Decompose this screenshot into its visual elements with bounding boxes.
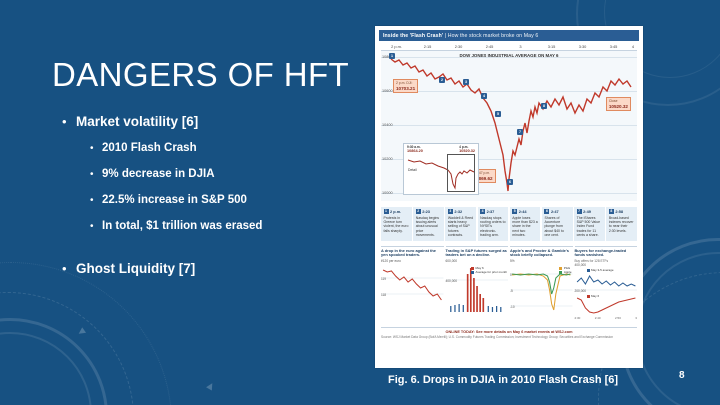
bullet-icon: • (62, 261, 76, 277)
note-number: 7 (577, 209, 582, 214)
note-body: Nasdaq stops routing orders to NYSE's el… (480, 216, 506, 238)
sub-panel-etf: Buyers for exchange-traded funds vanishe… (575, 246, 638, 323)
note-number: 8 (609, 209, 614, 214)
time-tick: 3:30 (567, 44, 598, 50)
infographic-header-title: Inside the 'Flash Crash' (383, 33, 443, 39)
legend-swatch-icon (587, 295, 590, 298)
djia-chart: 10800 10600 10400 10200 10000 1 2 3 4 5 … (381, 51, 637, 201)
time-tick: 2:15 (412, 44, 443, 50)
figure-image: Inside the 'Flash Crash' | How the stock… (375, 26, 643, 368)
infographic-header-subtitle: How the stock market broke on May 6 (448, 33, 539, 39)
legend-swatch-icon (559, 271, 562, 274)
open-callout: 2 p.m. DJI: 10703.21 (393, 79, 418, 93)
panel-tick: 118 (381, 293, 386, 316)
sub-panel-stocks: Apple's and Procter & Gamble's stock bri… (510, 246, 573, 323)
timeline-notes: 1 2 p.m. Protests in Greece turn violent… (381, 207, 637, 241)
sub-panel-euro-yen: A drop in the euro against the yen spook… (381, 246, 444, 323)
page-title: DANGERS OF HFT (52, 56, 349, 94)
note-number: 5 (512, 209, 517, 214)
inset-detail-label: Detail (408, 168, 417, 172)
list-item-label: 2010 Flash Crash (102, 141, 197, 156)
timeline-note: 1 2 p.m. Protests in Greece turn violent… (381, 207, 412, 241)
note-time: 2 p.m. (390, 209, 401, 214)
list-item-label: 9% decrease in DJIA (102, 167, 215, 182)
list-item-label: In total, $1 trillion was erased (102, 219, 262, 234)
panel-time-tick: 3 (635, 316, 637, 320)
list-item: • Ghost Liquidity [7] (62, 261, 362, 277)
panel-line-series (381, 264, 444, 312)
online-note: ONLINE TODAY: See more details on May 6 … (381, 327, 637, 334)
panel-time-axis: 2:30 2:40 2:50 3 (575, 316, 638, 320)
list-item: • 22.5% increase in S&P 500 (90, 193, 362, 208)
list-item-label: Ghost Liquidity [7] (76, 261, 195, 277)
source-note: Source: WSJ Market Data Group (BofA Merr… (381, 335, 637, 339)
slide: ◄ ◄ ◄ DANGERS OF HFT • Market volatility… (0, 0, 720, 405)
panel-legend: P&G Apple (559, 266, 571, 274)
inset-detail-box (447, 154, 475, 192)
note-time: 2:49 (583, 209, 591, 214)
panel-axis-label: 400,000 (575, 263, 638, 267)
timeline-note: 4 2:37 Nasdaq stops routing orders to NY… (478, 207, 509, 241)
page-number: 8 (679, 370, 685, 381)
panel-title: Trading in S&P futures surged as traders… (446, 249, 509, 259)
bullet-icon: • (62, 114, 76, 130)
panel-time-tick: 2:50 (615, 316, 621, 320)
time-tick: 2:45 (474, 44, 505, 50)
panel-title: Buyers for exchange-traded funds vanishe… (575, 249, 638, 259)
panel-legend-secondary: May 6 (587, 294, 600, 298)
timeline-note: 2 2:23 Nasdaq begins issuing alerts abou… (413, 207, 444, 241)
bullet-icon: • (90, 193, 102, 208)
legend-label: Apple (564, 270, 572, 274)
panel-chart: May 3-5 average May 6 200,000 2:30 2:40 … (575, 268, 638, 316)
timeline-note: 7 2:49 The iShares S&P 500 Value Index F… (574, 207, 605, 241)
note-number: 4 (480, 209, 485, 214)
sub-panel-sp-futures: Trading in S&P futures surged as traders… (446, 246, 509, 323)
note-body: Nasdaq begins issuing alerts about unusu… (416, 216, 442, 238)
note-time: 2:23 (422, 209, 430, 214)
time-tick: 4 (629, 44, 637, 50)
list-item: • 9% decrease in DJIA (90, 167, 362, 182)
chart-marker-6: 6 (507, 179, 513, 185)
legend-label: Average for prior month (476, 270, 507, 274)
panel-tick: -10 (510, 305, 515, 316)
panel-title: Apple's and Procter & Gamble's stock bri… (510, 249, 573, 259)
timeline-note: 5 2:44 Apple loses more than $23 a share… (510, 207, 541, 241)
time-axis: 2 p.m. 2:15 2:30 2:45 3 3:15 3:30 3:45 4 (381, 44, 637, 51)
note-body: Protests in Greece turn violent, the eur… (384, 216, 410, 234)
legend-swatch-icon (471, 271, 474, 274)
legend-swatch-icon (559, 267, 562, 270)
decorative-arc (0, 318, 108, 405)
note-time: 2:32 (454, 209, 462, 214)
note-number: 2 (416, 209, 421, 214)
panel-legend: May 3-5 average (587, 268, 614, 272)
chart-marker-7: 7 (517, 129, 523, 135)
list-item: • Market volatility [6] (62, 114, 362, 130)
bullet-icon: • (90, 141, 102, 156)
legend-item: May 3-5 average (587, 268, 614, 272)
panel-chart: P&G Apple 0 -5 -10 (510, 264, 573, 312)
time-tick: 3 (505, 44, 536, 50)
bullet-icon: • (90, 167, 102, 182)
note-time: 2:58 (615, 209, 623, 214)
bullet-icon: • (90, 219, 102, 234)
infographic-header: Inside the 'Flash Crash' | How the stock… (379, 30, 639, 41)
legend-swatch-icon (587, 269, 590, 272)
legend-label: May 3-5 average (591, 268, 614, 272)
list-spacer (62, 245, 362, 261)
decorative-arrow-icon: ◄ (203, 378, 219, 393)
chart-marker-5: 5 (495, 111, 501, 117)
inset-full-day-chart: 9:30 a.m. 10864.20 4 p.m. 10520.32 Detai… (403, 143, 479, 195)
chart-marker-3: 3 (463, 79, 469, 85)
time-tick: 3:15 (536, 44, 567, 50)
legend-item: May 6 (587, 294, 600, 298)
list-item: • In total, $1 trillion was erased (90, 219, 362, 234)
panel-chart: May 6 Average for prior month 400,000 (446, 264, 509, 312)
note-body: Broad-based indexes recover to near thei… (609, 216, 635, 234)
legend-label: May 6 (591, 294, 599, 298)
legend-item: Average for prior month (471, 270, 507, 274)
panel-title: A drop in the euro against the yen spook… (381, 249, 444, 259)
decorative-arrow-icon: ◄ (74, 324, 90, 340)
decorative-arc (0, 292, 134, 405)
list-item: • 2010 Flash Crash (90, 141, 362, 156)
time-tick: 2 p.m. (381, 44, 412, 50)
sub-panels: A drop in the euro against the yen spook… (381, 246, 637, 323)
timeline-note: 3 2:32 Waddell & Reed starts heavy selli… (445, 207, 476, 241)
list-item-label: Market volatility [6] (76, 114, 198, 130)
legend-item: Apple (559, 270, 571, 274)
note-number: 1 (384, 209, 389, 214)
list-item-label: 22.5% increase in S&P 500 (102, 193, 247, 208)
note-body: Waddell & Reed starts heavy selling of S… (448, 216, 474, 238)
note-time: 2:47 (551, 209, 559, 214)
note-number: 3 (448, 209, 453, 214)
note-body: The iShares S&P 500 Value Index Fund tra… (577, 216, 603, 238)
panel-time-tick: 2:40 (595, 316, 601, 320)
panel-legend: May 6 Average for prior month (471, 266, 507, 274)
panel-axis-label: 5% (510, 259, 573, 263)
timeline-note: 8 2:58 Broad-based indexes recover to ne… (606, 207, 637, 241)
note-body: Shares of Accenture plunge from about $4… (544, 216, 570, 238)
chart-marker-8: 8 (541, 103, 547, 109)
figure-caption: Fig. 6. Drops in DJIA in 2010 Flash Cras… (388, 374, 618, 386)
time-tick: 3:45 (598, 44, 629, 50)
close-callout-value: 10520.32 (609, 104, 628, 109)
bullet-list: • Market volatility [6] • 2010 Flash Cra… (62, 114, 362, 288)
time-tick: 2:30 (443, 44, 474, 50)
panel-axis-label: ¥120 per euro (381, 259, 444, 263)
panel-chart: 119 118 (381, 264, 444, 312)
note-number: 6 (544, 209, 549, 214)
infographic-header-separator: | (445, 33, 446, 39)
legend-swatch-icon (471, 267, 474, 270)
open-callout-label: 2 p.m. DJI: (396, 81, 415, 86)
decorative-arc (636, 252, 720, 405)
close-callout: Close 10520.32 (606, 97, 631, 111)
panel-tick: 400,000 (446, 279, 458, 316)
note-time: 2:44 (519, 209, 527, 214)
djia-chart-title: DOW JONES INDUSTRIAL AVERAGE ON MAY 6 (375, 53, 643, 58)
decorative-arc (0, 332, 92, 405)
chart-marker-4: 4 (481, 93, 487, 99)
chart-marker-2: 2 (439, 77, 445, 83)
timeline-note: 6 2:47 Shares of Accenture plunge from a… (542, 207, 573, 241)
panel-axis-label: 600,000 (446, 259, 509, 263)
note-time: 2:37 (487, 209, 495, 214)
note-body: Apple loses more than $23 a share in the… (512, 216, 538, 238)
panel-time-tick: 2:30 (575, 316, 581, 320)
open-callout-value: 10703.21 (396, 86, 415, 91)
